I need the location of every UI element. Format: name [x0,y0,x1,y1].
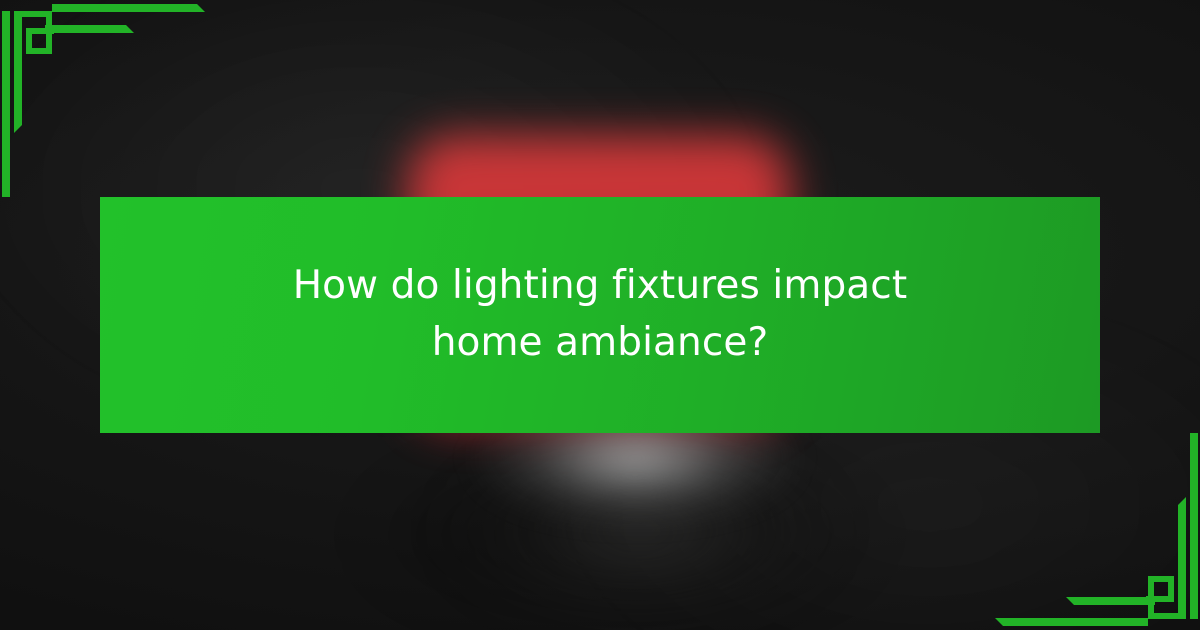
corner-bracket-bottom-right-icon [990,415,1200,630]
corner-bracket-top-left-icon [0,0,210,215]
question-banner: How do lighting fixtures impact home amb… [100,197,1100,433]
question-card-canvas: How do lighting fixtures impact home amb… [0,0,1200,630]
question-title: How do lighting fixtures impact home amb… [270,258,930,371]
